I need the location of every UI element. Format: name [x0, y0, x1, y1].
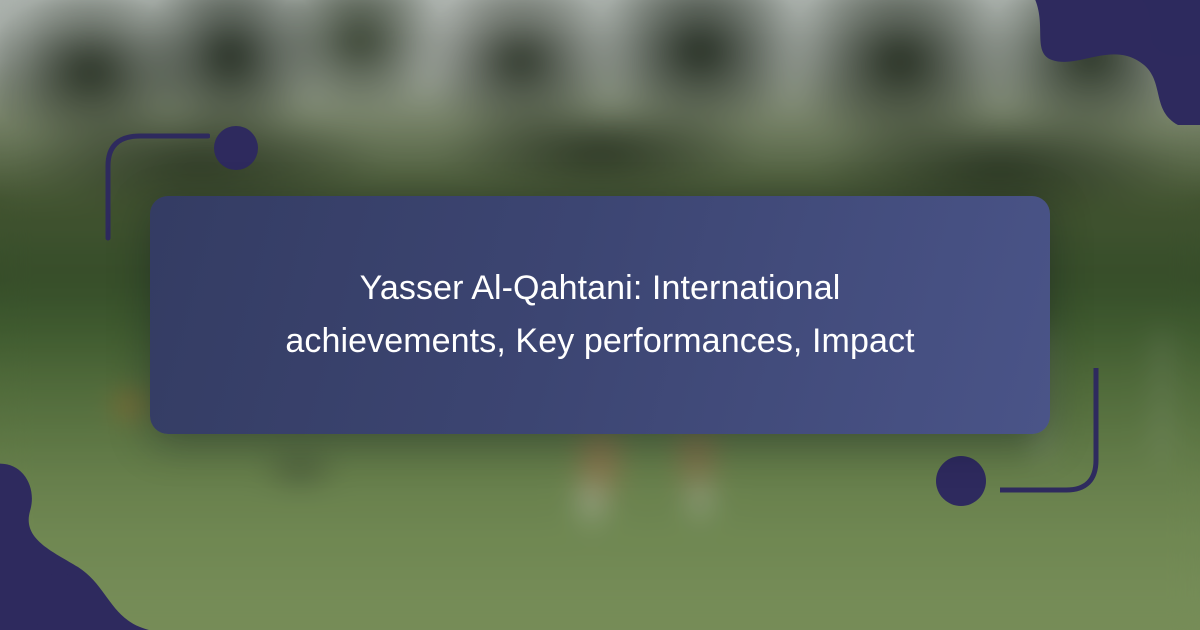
title-card: Yasser Al-Qahtani: International achieve… — [150, 196, 1050, 434]
card-title-text: Yasser Al-Qahtani: International achieve… — [210, 262, 990, 367]
share-card-canvas: Yasser Al-Qahtani: International achieve… — [0, 0, 1200, 630]
